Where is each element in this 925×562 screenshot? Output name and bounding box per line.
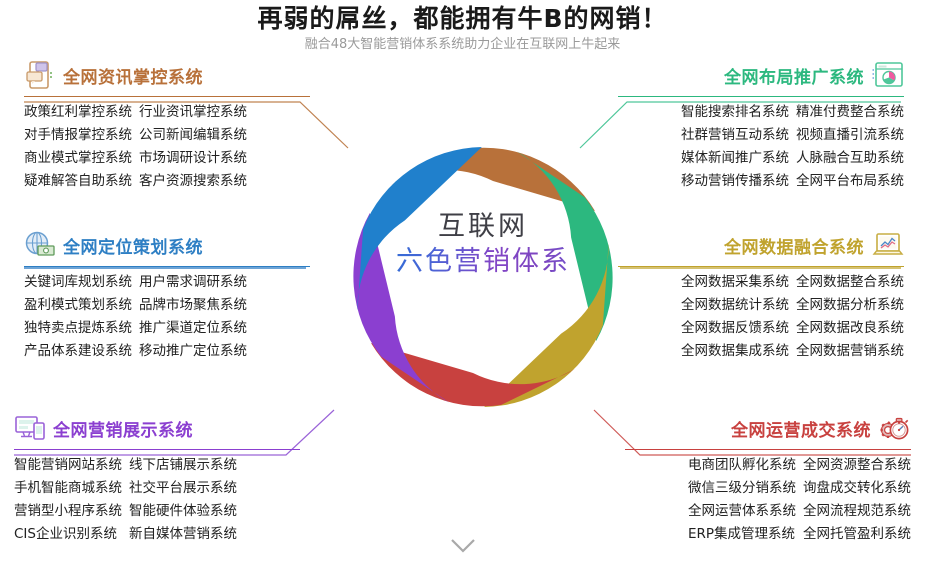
browser-pie-icon <box>872 60 904 90</box>
panel-info-rule <box>24 96 310 97</box>
panel-data[interactable]: 全网数据融合系统 全网数据采集系统 全网数据整合系统 全网数据统计系统 全网数据… <box>618 227 904 363</box>
panel-info-header: 全网资讯掌控系统 <box>24 57 310 93</box>
list-item[interactable]: 品牌市场聚焦系统 <box>139 294 247 317</box>
panel-operate-items: 电商团队孵化系统 全网资源整合系统 微信三级分销系统 询盘成交转化系统 全网运营… <box>625 454 911 546</box>
list-item[interactable]: 全网数据整合系统 <box>796 271 904 294</box>
panel-data-header: 全网数据融合系统 <box>618 227 904 263</box>
list-item[interactable]: ERP集成管理系统 <box>688 523 796 546</box>
list-item[interactable]: 媒体新闻推广系统 <box>681 147 789 170</box>
list-item[interactable]: 全网平台布局系统 <box>796 170 904 193</box>
list-item[interactable]: 全网数据统计系统 <box>681 294 789 317</box>
list-item[interactable]: 全网数据营销系统 <box>796 340 904 363</box>
list-item[interactable]: 商业模式掌控系统 <box>24 147 132 170</box>
list-item[interactable]: 人脉融合互助系统 <box>796 147 904 170</box>
panel-display-header: 全网营销展示系统 <box>14 410 300 446</box>
list-item[interactable]: 推广渠道定位系统 <box>139 317 247 340</box>
list-item[interactable]: 盈利模式策划系统 <box>24 294 132 317</box>
list-item[interactable]: 全网流程规范系统 <box>803 500 911 523</box>
list-item[interactable]: 智能营销网站系统 <box>14 454 122 477</box>
list-item[interactable]: 客户资源搜索系统 <box>139 170 247 193</box>
list-item[interactable]: 全网数据采集系统 <box>681 271 789 294</box>
monitor-mobile-icon <box>14 413 46 443</box>
list-item[interactable]: 新自媒体营销系统 <box>129 523 237 546</box>
list-item[interactable]: 用户需求调研系统 <box>139 271 247 294</box>
panel-operate[interactable]: 全网运营成交系统 电商团队孵化系统 全网资源整合系统 微信三级分销系统 询盘成交… <box>625 410 911 546</box>
list-item[interactable]: 精准付费整合系统 <box>796 101 904 124</box>
panel-promote-rule <box>618 96 904 97</box>
list-item[interactable]: 移动营销传播系统 <box>681 170 789 193</box>
list-item[interactable]: 对手情报掌控系统 <box>24 124 132 147</box>
panel-position-rule <box>24 266 310 267</box>
list-item[interactable]: 独特卖点提炼系统 <box>24 317 132 340</box>
chevron-down-icon[interactable] <box>450 538 476 554</box>
list-item[interactable]: 营销型小程序系统 <box>14 500 122 523</box>
globe-money-icon <box>24 230 56 260</box>
list-item[interactable]: 询盘成交转化系统 <box>803 477 911 500</box>
list-item[interactable]: 关键词库规划系统 <box>24 271 132 294</box>
list-item[interactable]: 全网数据集成系统 <box>681 340 789 363</box>
header: 再弱的屌丝，都能拥有牛B的网销！ 融合48大智能营销体系系统助力企业在互联网上牛… <box>0 0 925 53</box>
panel-data-rule <box>618 266 904 267</box>
list-item[interactable]: 疑难解答自助系统 <box>24 170 132 193</box>
list-item[interactable]: CIS企业识别系统 <box>14 523 122 546</box>
panel-data-items: 全网数据采集系统 全网数据整合系统 全网数据统计系统 全网数据分析系统 全网数据… <box>618 271 904 363</box>
list-item[interactable]: 电商团队孵化系统 <box>688 454 796 477</box>
stopwatch-gear-icon <box>879 413 911 443</box>
panel-display-rule <box>14 449 300 450</box>
list-item[interactable]: 行业资讯掌控系统 <box>139 101 247 124</box>
list-item[interactable]: 社交平台展示系统 <box>129 477 237 500</box>
list-item[interactable]: 手机智能商城系统 <box>14 477 122 500</box>
panel-info-title: 全网资讯掌控系统 <box>63 63 203 88</box>
list-item[interactable]: 全网托管盈利系统 <box>803 523 911 546</box>
panel-position-title: 全网定位策划系统 <box>63 233 203 258</box>
panel-position-header: 全网定位策划系统 <box>24 227 310 263</box>
list-item[interactable]: 微信三级分销系统 <box>688 477 796 500</box>
panel-operate-header: 全网运营成交系统 <box>625 410 911 446</box>
list-item[interactable]: 全网数据反馈系统 <box>681 317 789 340</box>
list-item[interactable]: 公司新闻编辑系统 <box>139 124 247 147</box>
panel-promote-items: 智能搜索排名系统 精准付费整合系统 社群营销互动系统 视频直播引流系统 媒体新闻… <box>618 101 904 193</box>
list-item[interactable]: 智能硬件体验系统 <box>129 500 237 523</box>
list-item[interactable]: 智能搜索排名系统 <box>681 101 789 124</box>
panel-display[interactable]: 全网营销展示系统 智能营销网站系统 线下店铺展示系统 手机智能商城系统 社交平台… <box>14 410 300 546</box>
aperture-graphic <box>333 77 633 477</box>
panel-operate-rule <box>625 449 911 450</box>
panel-operate-title: 全网运营成交系统 <box>731 416 871 441</box>
list-item[interactable]: 全网资源整合系统 <box>803 454 911 477</box>
page-subtitle: 融合48大智能营销体系系统助力企业在互联网上牛起来 <box>0 37 925 53</box>
panel-data-title: 全网数据融合系统 <box>724 233 864 258</box>
list-item[interactable]: 全网数据改良系统 <box>796 317 904 340</box>
panel-promote-header: 全网布局推广系统 <box>618 57 904 93</box>
panel-info-items: 政策红利掌控系统 行业资讯掌控系统 对手情报掌控系统 公司新闻编辑系统 商业模式… <box>24 101 310 193</box>
panel-display-title: 全网营销展示系统 <box>53 416 193 441</box>
list-item[interactable]: 社群营销互动系统 <box>681 124 789 147</box>
list-item[interactable]: 产品体系建设系统 <box>24 340 132 363</box>
list-item[interactable]: 政策红利掌控系统 <box>24 101 132 124</box>
list-item[interactable]: 视频直播引流系统 <box>796 124 904 147</box>
list-item[interactable]: 移动推广定位系统 <box>139 340 247 363</box>
list-item[interactable]: 市场调研设计系统 <box>139 147 247 170</box>
page-title: 再弱的屌丝，都能拥有牛B的网销！ <box>0 4 925 34</box>
panel-promote[interactable]: 全网布局推广系统 智能搜索排名系统 精准付费整合系统 社群营销互动系统 视频直播… <box>618 57 904 193</box>
phone-chat-icon <box>24 60 56 90</box>
laptop-chart-icon <box>872 230 904 260</box>
panel-position-items: 关键词库规划系统 用户需求调研系统 盈利模式策划系统 品牌市场聚焦系统 独特卖点… <box>24 271 310 363</box>
list-item[interactable]: 线下店铺展示系统 <box>129 454 237 477</box>
panel-promote-title: 全网布局推广系统 <box>724 63 864 88</box>
panel-position[interactable]: 全网定位策划系统 关键词库规划系统 用户需求调研系统 盈利模式策划系统 品牌市场… <box>24 227 310 363</box>
list-item[interactable]: 全网运营体系系统 <box>688 500 796 523</box>
list-item[interactable]: 全网数据分析系统 <box>796 294 904 317</box>
panel-display-items: 智能营销网站系统 线下店铺展示系统 手机智能商城系统 社交平台展示系统 营销型小… <box>14 454 300 546</box>
panel-info[interactable]: 全网资讯掌控系统 政策红利掌控系统 行业资讯掌控系统 对手情报掌控系统 公司新闻… <box>24 57 310 193</box>
